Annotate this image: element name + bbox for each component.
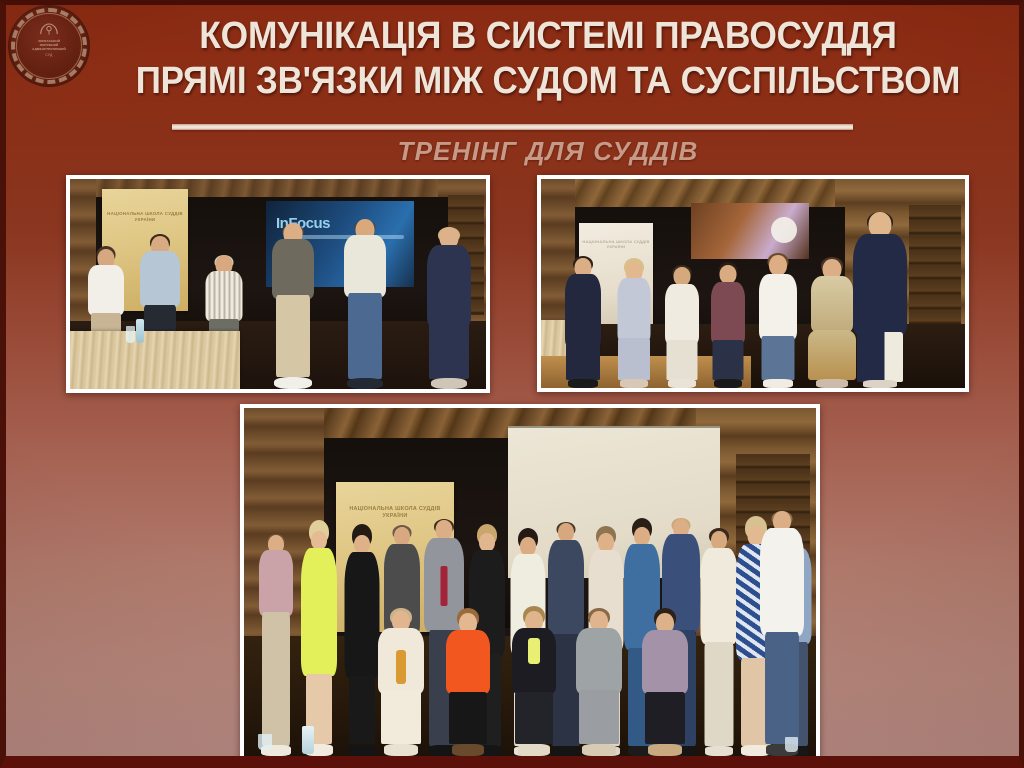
person	[296, 518, 342, 756]
foreground-table	[70, 331, 240, 389]
seal-text-line-3: АДМІНІСТРАТИВНИЙ	[22, 47, 76, 51]
person-seated	[506, 606, 562, 756]
bookshelf	[909, 205, 961, 335]
person	[611, 256, 657, 388]
photo-top-right[interactable]: НАЦІОНАЛЬНА ШКОЛА СУДДІВ УКРАЇНИ	[537, 175, 969, 392]
person-seated	[440, 608, 496, 756]
projection-logo-circle	[771, 217, 797, 243]
seal-inner-disc: ЧЕРКАСЬКИЙ ОКРУЖНИЙ АДМІНІСТРАТИВНИЙ СУД	[19, 16, 79, 76]
photo-top-left[interactable]: InFocus НАЦІОНАЛЬНА ШКОЛА СУДДІВ УКРАЇНИ	[66, 175, 490, 393]
slide-header: ЧЕРКАСЬКИЙ ОКРУЖНИЙ АДМІНІСТРАТИВНИЙ СУД…	[0, 0, 1024, 178]
necktie	[441, 566, 448, 606]
slide-title-line-2: ПРЯМІ ЗВ'ЯЗКИ МІЖ СУДОМ ТА СУСПІЛЬСТВОМ	[127, 59, 970, 104]
person	[254, 526, 298, 756]
person	[422, 221, 476, 389]
person	[705, 260, 751, 388]
photo-1-scene: InFocus НАЦІОНАЛЬНА ШКОЛА СУДДІВ УКРАЇНИ	[70, 179, 486, 389]
photo-2-banner-text: НАЦІОНАЛЬНА ШКОЛА СУДДІВ УКРАЇНИ	[579, 239, 653, 249]
person	[338, 213, 392, 389]
person	[266, 217, 320, 389]
person-seated	[372, 604, 430, 756]
photo-group-bottom[interactable]: НАЦІОНАЛЬНА ШКОЛА СУДДІВ УКРАЇНИ	[240, 404, 820, 760]
drinking-glass	[258, 734, 272, 750]
slide-title-line-1: КОМУНІКАЦІЯ В СИСТЕМІ ПРАВОСУДДЯ	[122, 14, 974, 59]
person	[756, 502, 808, 756]
court-seal-logo: ЧЕРКАСЬКИЙ ОКРУЖНИЙ АДМІНІСТРАТИВНИЙ СУД	[8, 5, 90, 87]
slide-subtitle: ТРЕНІНГ ДЛЯ СУДДІВ	[90, 136, 1006, 167]
title-divider	[172, 124, 853, 130]
presentation-slide: ЧЕРКАСЬКИЙ ОКРУЖНИЙ АДМІНІСТРАТИВНИЙ СУД…	[0, 0, 1024, 768]
water-bottle	[302, 726, 314, 754]
photo-3-scene: НАЦІОНАЛЬНА ШКОЛА СУДДІВ УКРАЇНИ	[244, 408, 816, 756]
person	[659, 262, 705, 388]
seal-text-line-4: СУД	[45, 53, 52, 57]
water-bottle	[136, 319, 144, 343]
title-block: КОМУНІКАЦІЯ В СИСТЕМІ ПРАВОСУДДЯ ПРЯМІ З…	[90, 14, 1006, 104]
person-seated	[570, 606, 628, 756]
person-seated	[636, 608, 694, 756]
scarf	[396, 650, 406, 684]
seal-emblem-icon	[38, 22, 60, 37]
photo-1-banner-text: НАЦІОНАЛЬНА ШКОЛА СУДДІВ УКРАЇНИ	[102, 211, 188, 222]
photo-2-scene: НАЦІОНАЛЬНА ШКОЛА СУДДІВ УКРАЇНИ	[541, 179, 965, 388]
person	[559, 252, 607, 388]
scarf	[528, 638, 540, 664]
drinking-glass	[126, 326, 135, 343]
person	[753, 250, 803, 388]
drinking-glass	[785, 737, 798, 752]
person	[845, 208, 915, 388]
